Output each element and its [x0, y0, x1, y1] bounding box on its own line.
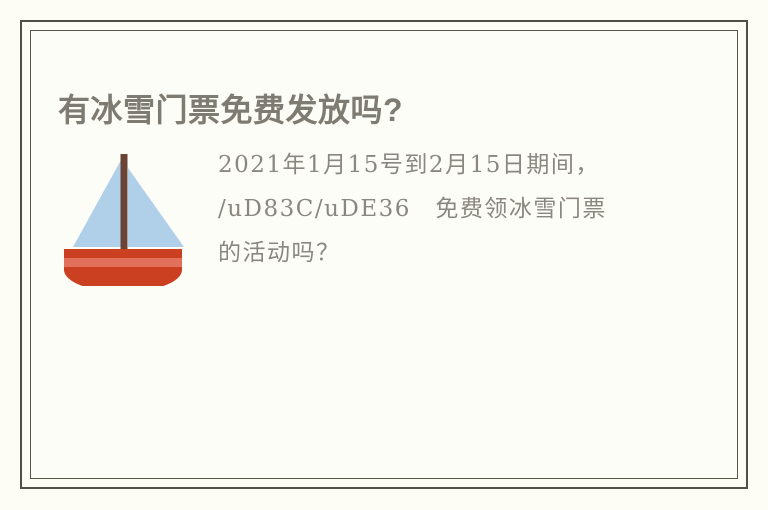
article-content: 有冰雪门票免费发放吗? [31, 31, 737, 478]
body-line: 2021年1月15号到2月15日期间， [218, 143, 607, 187]
body-line: /uD83C/uDE36 免费领冰雪门票 [218, 187, 607, 231]
sailboat-icon [58, 146, 188, 286]
page-root: 有冰雪门票免费发放吗? [0, 0, 768, 510]
article-body-text: 2021年1月15号到2月15日期间， /uD83C/uDE36 免费领冰雪门票… [218, 141, 607, 275]
body-line: 的活动吗？ [218, 231, 607, 275]
page-title: 有冰雪门票免费发放吗? [58, 90, 403, 130]
article-body: 2021年1月15号到2月15日期间， /uD83C/uDE36 免费领冰雪门票… [58, 141, 708, 286]
